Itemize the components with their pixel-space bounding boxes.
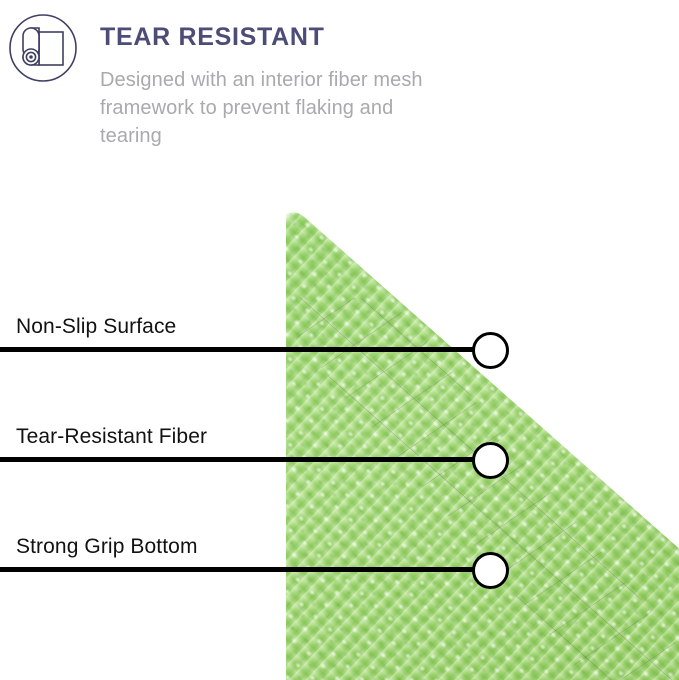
- callout-leader-line: [0, 457, 490, 462]
- callout-leader-line: [0, 567, 490, 572]
- product-feature-infographic: TEAR RESISTANT Designed with an interior…: [0, 0, 679, 680]
- callout-marker-3: [472, 552, 509, 589]
- mat-roll-icon: [8, 13, 78, 83]
- callout-label: Tear-Resistant Fiber: [16, 426, 207, 447]
- page-title: TEAR RESISTANT: [100, 24, 520, 52]
- callout-marker-2: [472, 442, 509, 479]
- header-subtitle: Designed with an interior fiber mesh fra…: [100, 52, 440, 151]
- header-text-block: TEAR RESISTANT Designed with an interior…: [100, 24, 520, 151]
- callout-leader-line: [0, 347, 490, 352]
- callout-label: Non-Slip Surface: [16, 316, 176, 337]
- header: TEAR RESISTANT Designed with an interior…: [0, 0, 679, 175]
- callout-marker-1: [472, 332, 509, 369]
- callout-label: Strong Grip Bottom: [16, 536, 198, 557]
